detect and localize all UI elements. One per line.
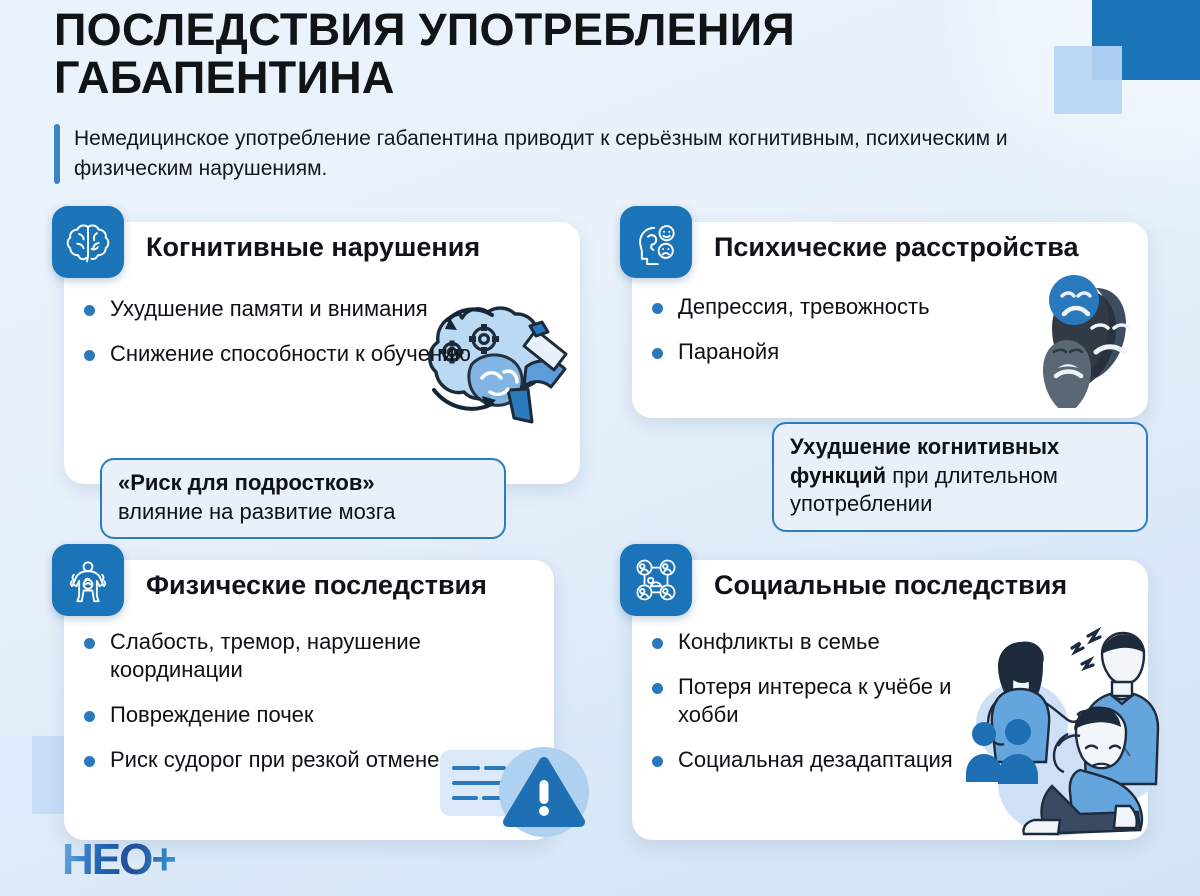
infographic-root: ПОСЛЕДСТВИЯ УПОТРЕБЛЕНИЯ ГАБАПЕНТИНА Нем… bbox=[0, 0, 1200, 896]
callout-strong-text: «Риск для подростков» bbox=[118, 470, 375, 495]
bullet-label: Снижение способности к обучению bbox=[110, 340, 471, 368]
bullet-dot-icon bbox=[652, 638, 663, 649]
bullet-dot-icon bbox=[84, 711, 95, 722]
bullet-list-mental: Депрессия, тревожность Паранойя bbox=[652, 293, 1052, 366]
card-title-physical: Физические последствия bbox=[146, 570, 487, 601]
callout-line: Ухудшение когнитивных функций при длител… bbox=[790, 433, 1130, 519]
bullet-dot-icon bbox=[652, 303, 663, 314]
family-conflict-illustration bbox=[960, 606, 1160, 840]
list-item: Депрессия, тревожность bbox=[652, 293, 1052, 321]
list-item: Снижение способности к обучению bbox=[84, 340, 484, 368]
callout-line: влияние на развитие мозга bbox=[118, 498, 488, 527]
page-subtitle: Немедицинское употребление габапентина п… bbox=[74, 124, 1014, 184]
bullet-dot-icon bbox=[84, 350, 95, 361]
list-item: Конфликты в семье bbox=[652, 628, 982, 656]
list-item: Потеря интереса к учёбе и хобби bbox=[652, 673, 982, 729]
list-item: Паранойя bbox=[652, 338, 1052, 366]
bullet-dot-icon bbox=[652, 756, 663, 767]
header: ПОСЛЕДСТВИЯ УПОТРЕБЛЕНИЯ ГАБАПЕНТИНА Нем… bbox=[54, 6, 1074, 184]
bullet-list-physical: Слабость, тремор, нарушение координации … bbox=[84, 628, 494, 775]
people-network-icon bbox=[620, 544, 692, 616]
body-organs-icon bbox=[52, 544, 124, 616]
card-title-social: Социальные последствия bbox=[714, 570, 1067, 601]
bullet-dot-icon bbox=[652, 683, 663, 694]
list-item: Социальная дезадаптация bbox=[652, 746, 982, 774]
callout-teen-risk: «Риск для подростков» влияние на развити… bbox=[100, 458, 506, 539]
page-title: ПОСЛЕДСТВИЯ УПОТРЕБЛЕНИЯ ГАБАПЕНТИНА bbox=[54, 6, 1074, 101]
bullet-list-cognitive: Ухудшение памяти и внимания Снижение спо… bbox=[84, 295, 484, 368]
callout-line: «Риск для подростков» bbox=[118, 469, 488, 498]
card-title-cognitive: Когнитивные нарушения bbox=[146, 232, 480, 263]
subtitle-accent-bar bbox=[54, 124, 60, 184]
bullet-label: Риск судорог при резкой отмене bbox=[110, 746, 439, 774]
bullet-label: Конфликты в семье bbox=[678, 628, 880, 656]
callout-rest-text: влияние на развитие мозга bbox=[118, 499, 395, 524]
list-item: Повреждение почек bbox=[84, 701, 494, 729]
subtitle-block: Немедицинское употребление габапентина п… bbox=[54, 124, 1074, 184]
bullet-label: Повреждение почек bbox=[110, 701, 314, 729]
list-item: Ухудшение памяти и внимания bbox=[84, 295, 484, 323]
theatre-masks-illustration bbox=[1040, 272, 1152, 408]
bullet-label: Социальная дезадаптация bbox=[678, 746, 953, 774]
bullet-list-social: Конфликты в семье Потеря интереса к учёб… bbox=[652, 628, 982, 775]
brain-icon bbox=[52, 206, 124, 278]
brand-logo: НЕО+ bbox=[62, 838, 175, 882]
list-item: Слабость, тремор, нарушение координации bbox=[84, 628, 494, 684]
decorative-band-left bbox=[0, 736, 32, 814]
bullet-label: Потеря интереса к учёбе и хобби bbox=[678, 673, 982, 729]
head-emotions-icon bbox=[620, 206, 692, 278]
bullet-label: Паранойя bbox=[678, 338, 779, 366]
bullet-label: Слабость, тремор, нарушение координации bbox=[110, 628, 494, 684]
bullet-dot-icon bbox=[84, 756, 95, 767]
callout-long-term: Ухудшение когнитивных функций при длител… bbox=[772, 422, 1148, 532]
bullet-label: Ухудшение памяти и внимания bbox=[110, 295, 428, 323]
bullet-label: Депрессия, тревожность bbox=[678, 293, 930, 321]
card-title-mental: Психические расстройства bbox=[714, 232, 1078, 263]
bullet-dot-icon bbox=[84, 638, 95, 649]
bullet-dot-icon bbox=[652, 348, 663, 359]
list-item: Риск судорог при резкой отмене bbox=[84, 746, 494, 774]
bullet-dot-icon bbox=[84, 305, 95, 316]
